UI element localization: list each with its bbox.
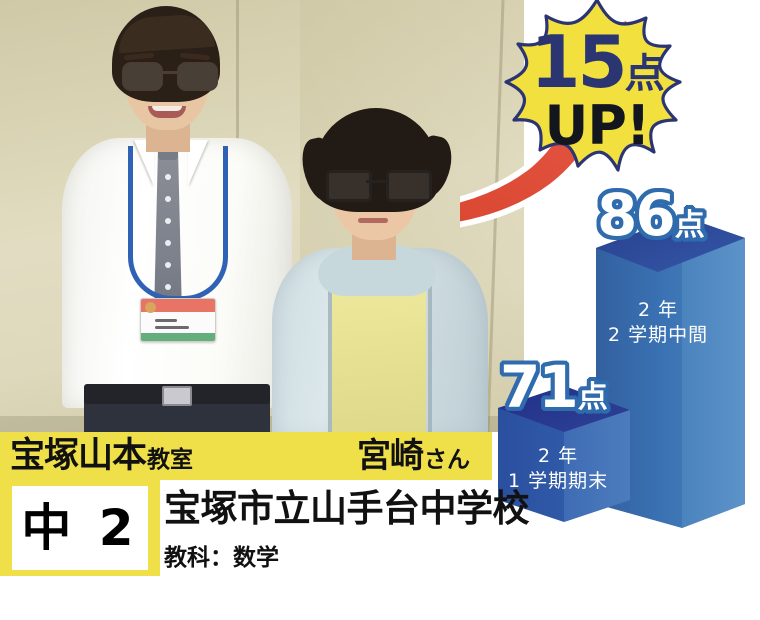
info-banner: 宝塚山本 教室 宮崎 さん [0, 432, 492, 480]
student-hoodie-edge [328, 286, 332, 432]
testimonial-card: 86 点 71 点 2 年 2 学期中間 2 年 1 学期期末 15点 UP! … [0, 0, 760, 620]
student-figure [272, 108, 488, 432]
grade-box-wrapper: 中 2 [0, 480, 160, 576]
teacher-id-badge [140, 298, 216, 342]
points-up-badge: 15点 UP! [470, 0, 724, 192]
classroom-name-main: 宝塚山本 [10, 434, 146, 478]
teacher-lanyard [128, 146, 228, 301]
grade-label: 中 2 [21, 503, 138, 553]
student-hair-fringe [322, 124, 430, 164]
teacher-glasses [120, 62, 216, 88]
student-name-main: 宮崎 [357, 434, 423, 478]
teacher-figure [62, 6, 292, 432]
grade-box: 中 2 [12, 486, 148, 570]
student-photo [0, 0, 524, 432]
starburst-icon [470, 0, 724, 192]
teacher-mouth [148, 106, 186, 118]
school-info: 宝塚市立山手台中学校 教科：数学 [164, 488, 504, 572]
student-hoodie-edge [428, 286, 432, 432]
school-name: 宝塚市立山手台中学校 [164, 488, 504, 529]
student-name: 宮崎 さん [357, 434, 470, 482]
student-glasses [326, 170, 426, 197]
classroom-name: 宝塚山本 教室 [10, 434, 193, 482]
student-name-honorific: さん [424, 438, 470, 482]
teacher-belt [84, 384, 270, 404]
student-mouth [358, 218, 388, 223]
classroom-name-suffix: 教室 [147, 438, 193, 482]
subject-label: 教科：数学 [164, 538, 504, 572]
